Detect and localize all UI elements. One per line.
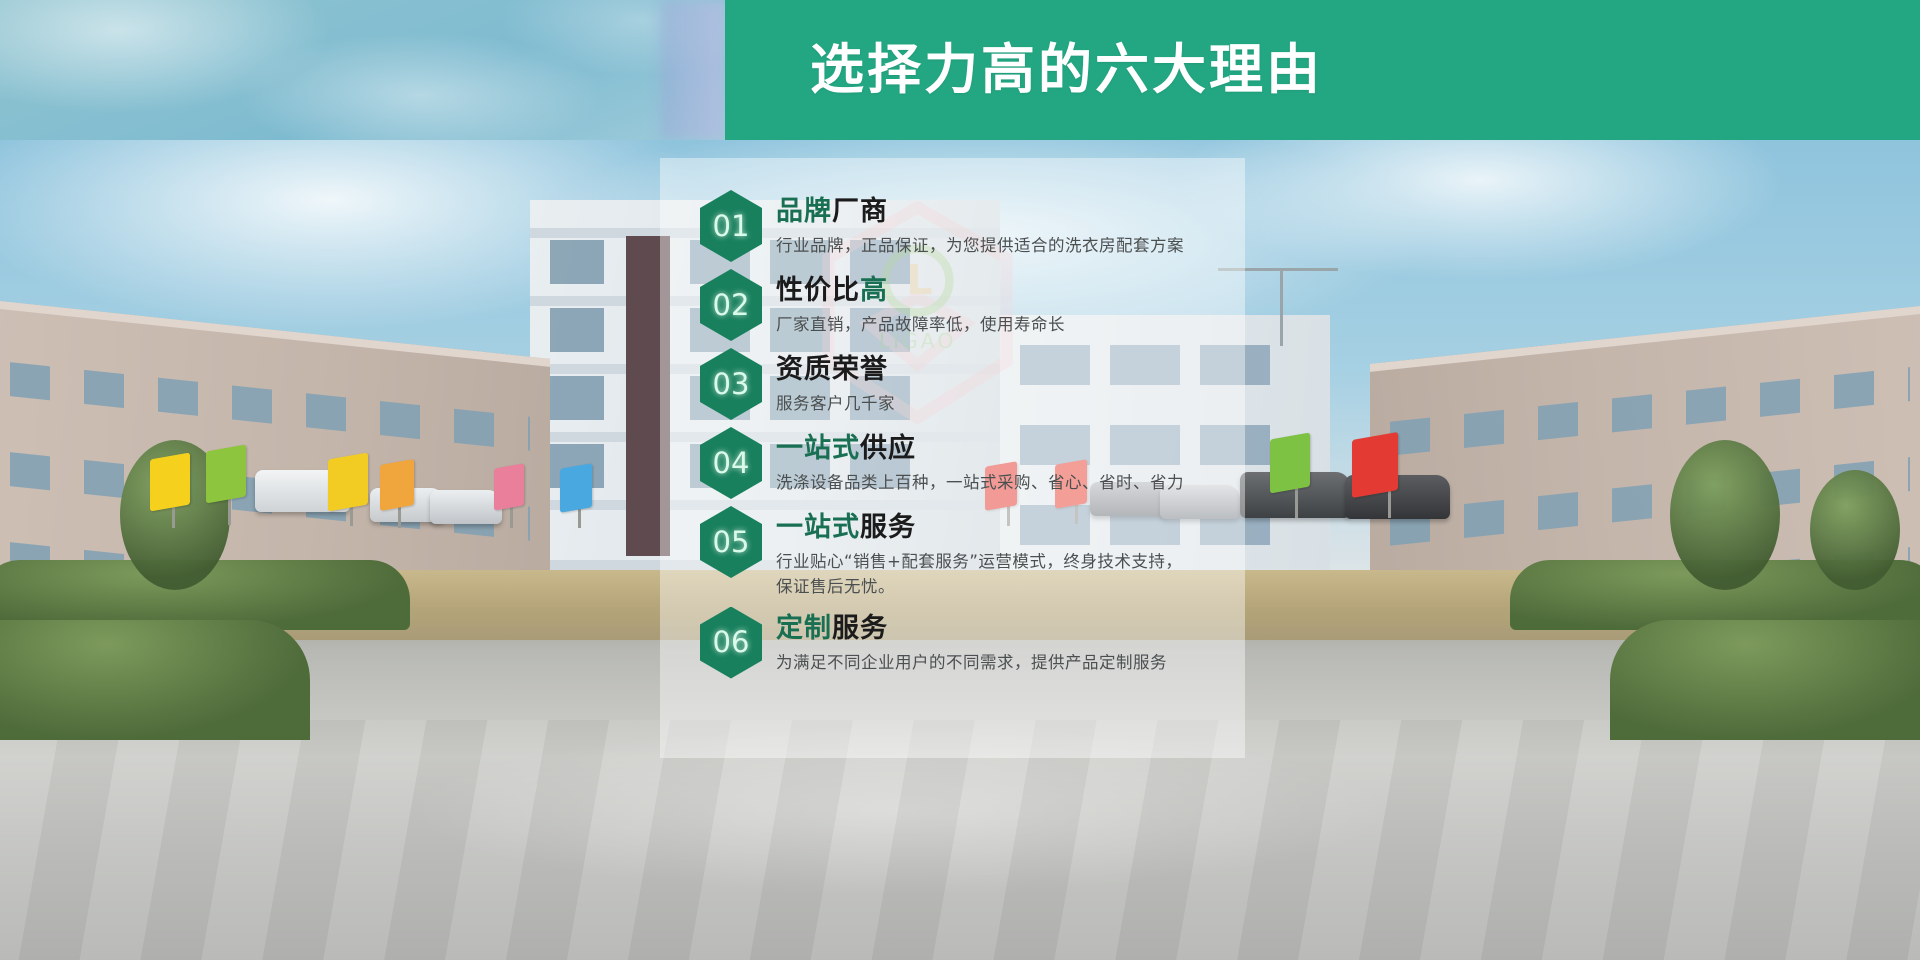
- reason-description: 厂家直销，产品故障率低，使用寿命长: [776, 313, 1065, 338]
- reason-badge: 06: [700, 607, 762, 679]
- list-item: 06 定制服务 为满足不同企业用户的不同需求，提供产品定制服务: [700, 607, 1220, 679]
- hexagon-icon: 06: [700, 607, 762, 679]
- flag-orange: [380, 459, 414, 511]
- tree-right: [1670, 440, 1780, 590]
- reason-title: 一站式供应: [776, 433, 1184, 464]
- reason-description: 为满足不同企业用户的不同需求，提供产品定制服务: [776, 651, 1167, 676]
- reason-title: 一站式服务: [776, 512, 1182, 543]
- page-title: 选择力高的六大理由: [810, 43, 1323, 97]
- hexagon-icon: 03: [700, 348, 762, 420]
- reason-title-accent: 一站式: [776, 512, 860, 543]
- reason-description-line: 行业贴心“销售+配套服务”运营模式，终身技术支持，: [776, 550, 1182, 575]
- reason-badge: 02: [700, 269, 762, 341]
- reason-title-rest: 服务: [860, 512, 916, 543]
- reason-title-accent: 品牌: [776, 196, 832, 227]
- header-banner: 选择力高的六大理由: [0, 0, 1920, 140]
- hedge-right-lower: [1610, 620, 1920, 740]
- reason-text: 性价比高 厂家直销，产品故障率低，使用寿命长: [776, 269, 1065, 338]
- reason-number: 03: [713, 370, 750, 399]
- hexagon-icon: 02: [700, 269, 762, 341]
- flag-red-large: [1352, 432, 1398, 498]
- list-item: 04 一站式供应 洗涤设备品类上百种，一站式采购、省心、省时、省力: [700, 427, 1220, 499]
- banner-sky-strip: [0, 0, 725, 140]
- reason-title-rest: 性价比: [776, 275, 860, 306]
- reason-title-accent: 一站式: [776, 433, 860, 464]
- reason-description-line: 厂家直销，产品故障率低，使用寿命长: [776, 313, 1065, 338]
- reason-description: 服务客户几千家: [776, 392, 895, 417]
- reason-number: 06: [713, 628, 750, 657]
- reason-description: 洗涤设备品类上百种，一站式采购、省心、省时、省力: [776, 471, 1184, 496]
- reason-title-rest: 厂商: [832, 196, 888, 227]
- reasons-list: 01 品牌厂商 行业品牌，正品保证，为您提供适合的洗衣房配套方案 02: [700, 190, 1220, 679]
- reason-title-accent: 定制: [776, 613, 832, 644]
- reason-text: 一站式供应 洗涤设备品类上百种，一站式采购、省心、省时、省力: [776, 427, 1184, 496]
- reason-badge: 04: [700, 427, 762, 499]
- reason-badge: 05: [700, 506, 762, 578]
- banner-green-block: 选择力高的六大理由: [725, 0, 1920, 140]
- reason-title-rest: 服务: [832, 613, 888, 644]
- reason-title: 定制服务: [776, 613, 1167, 644]
- flag-yellow: [150, 452, 190, 511]
- flag-green: [206, 444, 246, 503]
- list-item: 05 一站式服务 行业贴心“销售+配套服务”运营模式，终身技术支持， 保证售后无…: [700, 506, 1220, 600]
- reason-title: 资质荣誉: [776, 354, 895, 385]
- promo-banner-page: L LIGAO 选择力高的六大理由 01 品牌厂商 行业品牌，正: [0, 0, 1920, 960]
- reason-text: 品牌厂商 行业品牌，正品保证，为您提供适合的洗衣房配套方案: [776, 190, 1184, 259]
- flag-green-right: [1270, 432, 1310, 493]
- reason-text: 定制服务 为满足不同企业用户的不同需求，提供产品定制服务: [776, 607, 1167, 676]
- reason-title-rest: 资质荣誉: [776, 354, 888, 385]
- reason-text: 一站式服务 行业贴心“销售+配套服务”运营模式，终身技术支持， 保证售后无忧。: [776, 506, 1182, 600]
- reason-description-line: 服务客户几千家: [776, 392, 895, 417]
- reason-title-rest: 供应: [860, 433, 916, 464]
- list-item: 01 品牌厂商 行业品牌，正品保证，为您提供适合的洗衣房配套方案: [700, 190, 1220, 262]
- reason-number: 05: [713, 528, 750, 557]
- reason-description-line: 洗涤设备品类上百种，一站式采购、省心、省时、省力: [776, 471, 1184, 496]
- reason-number: 01: [713, 212, 750, 241]
- flag-yellow-2: [328, 452, 368, 511]
- hexagon-icon: 05: [700, 506, 762, 578]
- reason-badge: 01: [700, 190, 762, 262]
- list-item: 02 性价比高 厂家直销，产品故障率低，使用寿命长: [700, 269, 1220, 341]
- reason-description: 行业品牌，正品保证，为您提供适合的洗衣房配套方案: [776, 234, 1184, 259]
- hexagon-icon: 04: [700, 427, 762, 499]
- reason-description: 行业贴心“销售+配套服务”运营模式，终身技术支持， 保证售后无忧。: [776, 550, 1182, 600]
- reason-text: 资质荣誉 服务客户几千家: [776, 348, 895, 417]
- reason-description-line: 保证售后无忧。: [776, 575, 1182, 600]
- construction-crane-mast: [1280, 268, 1283, 346]
- hedge-left-lower: [0, 620, 310, 740]
- vehicle-sedan-white-2: [430, 490, 502, 524]
- flag-blue: [560, 463, 592, 513]
- reason-description-line: 为满足不同企业用户的不同需求，提供产品定制服务: [776, 651, 1167, 676]
- reason-number: 04: [713, 449, 750, 478]
- reason-description-line: 行业品牌，正品保证，为您提供适合的洗衣房配套方案: [776, 234, 1184, 259]
- reason-badge: 03: [700, 348, 762, 420]
- hexagon-icon: 01: [700, 190, 762, 262]
- list-item: 03 资质荣誉 服务客户几千家: [700, 348, 1220, 420]
- reason-number: 02: [713, 291, 750, 320]
- flag-pink: [494, 463, 524, 510]
- reason-title-accent: 高: [860, 275, 888, 306]
- reason-title: 品牌厂商: [776, 196, 1184, 227]
- reason-title: 性价比高: [776, 275, 1065, 306]
- tree-far-right: [1810, 470, 1900, 590]
